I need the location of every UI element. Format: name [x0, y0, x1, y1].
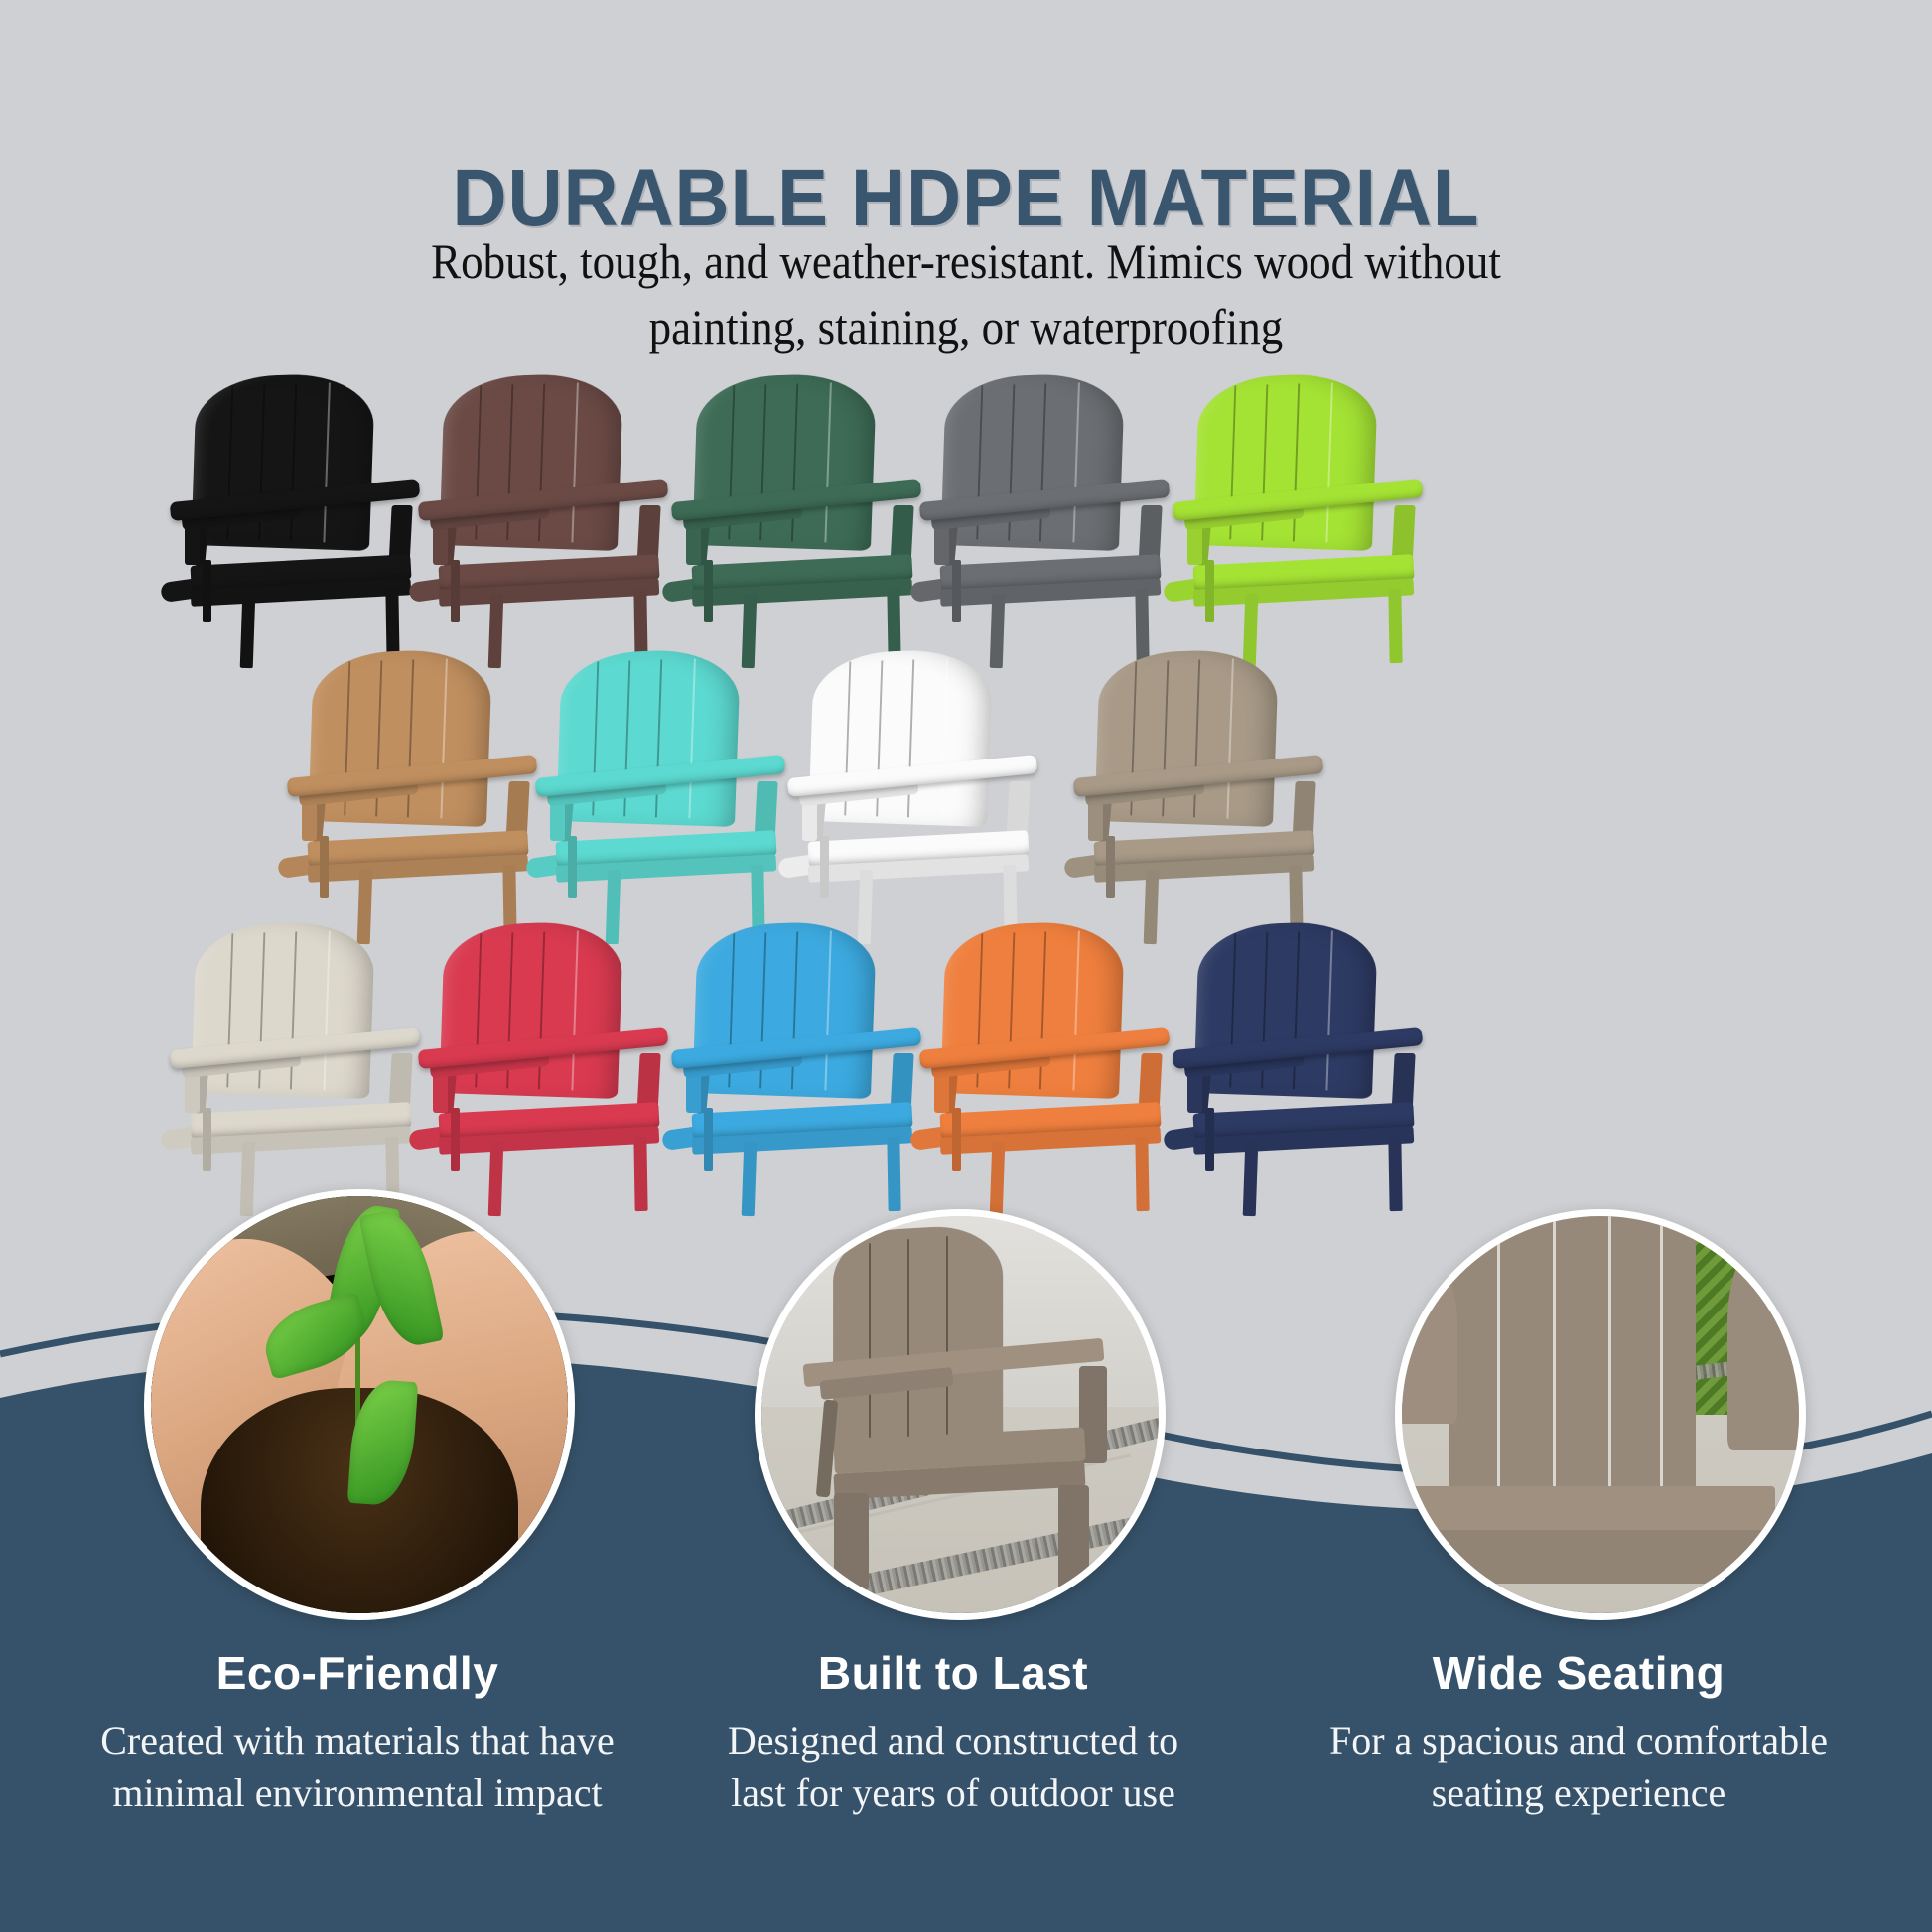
feature-desc-line-1: Created with materials that have — [60, 1716, 655, 1767]
chair-leg — [203, 560, 211, 623]
chair-leg — [1205, 560, 1214, 623]
feature-desc-line-1: Designed and constructed to — [655, 1716, 1251, 1767]
chair-leg — [240, 594, 255, 669]
feature-desc-line-1: For a spacious and comfortable — [1281, 1716, 1876, 1767]
chair-leg — [451, 1108, 460, 1172]
feature-desc-line-2: seating experience — [1281, 1767, 1876, 1819]
chair-swatch-white[interactable] — [766, 651, 1064, 939]
chair-leg — [742, 1142, 757, 1217]
chair-leg — [203, 1108, 211, 1172]
feature-heading: Wide Seating — [1281, 1646, 1876, 1700]
chair-leg — [568, 836, 577, 899]
chair-leg — [952, 560, 961, 623]
taupe-chair — [785, 1228, 1135, 1601]
feature-built-to-last: Built to Last Designed and constructed t… — [655, 1646, 1251, 1819]
chair-leg — [1389, 1136, 1403, 1211]
chair-swatch-lime-green[interactable] — [1152, 375, 1449, 663]
feature-heading: Eco-Friendly — [60, 1646, 655, 1700]
chair-leg — [952, 1108, 961, 1172]
chair-leg — [1136, 1136, 1150, 1211]
feature-photo-eco-friendly — [144, 1189, 575, 1620]
chair-leg — [634, 1136, 648, 1211]
chair-leg — [704, 560, 713, 623]
taupe-chair-seat-closeup — [1402, 1209, 1799, 1620]
chair-leg — [990, 1142, 1005, 1217]
chair-leg — [451, 560, 460, 623]
chair-leg — [704, 1108, 713, 1172]
chair-leg — [320, 836, 329, 899]
subtitle-line-1: Robust, tough, and weather-resistant. Mi… — [341, 228, 1591, 294]
chair-leg — [820, 836, 829, 899]
subtitle-line-2: painting, staining, or waterproofing — [341, 294, 1591, 359]
chair-swatch-navy[interactable] — [1152, 923, 1449, 1211]
feature-photo-built-to-last — [755, 1209, 1166, 1620]
chair-leg — [1243, 1142, 1258, 1217]
feature-desc-line-2: minimal environmental impact — [60, 1767, 655, 1819]
feature-desc-line-2: last for years of outdoor use — [655, 1767, 1251, 1819]
feature-wide-seating: Wide Seating For a spacious and comforta… — [1281, 1646, 1876, 1819]
feature-eco-friendly: Eco-Friendly Created with materials that… — [60, 1646, 655, 1819]
chair-swatch-weathered-wood[interactable] — [1052, 651, 1350, 939]
chair-leg — [1389, 588, 1403, 663]
feature-heading: Built to Last — [655, 1646, 1251, 1700]
chair-leg — [1106, 836, 1115, 899]
chair-leg — [1205, 1108, 1214, 1172]
infographic-canvas: DURABLE HDPE MATERIAL Robust, tough, and… — [0, 0, 1932, 1932]
feature-photo-wide-seating — [1395, 1209, 1806, 1620]
chair-color-grid — [0, 375, 1932, 1269]
page-subtitle: Robust, tough, and weather-resistant. Mi… — [271, 228, 1661, 359]
